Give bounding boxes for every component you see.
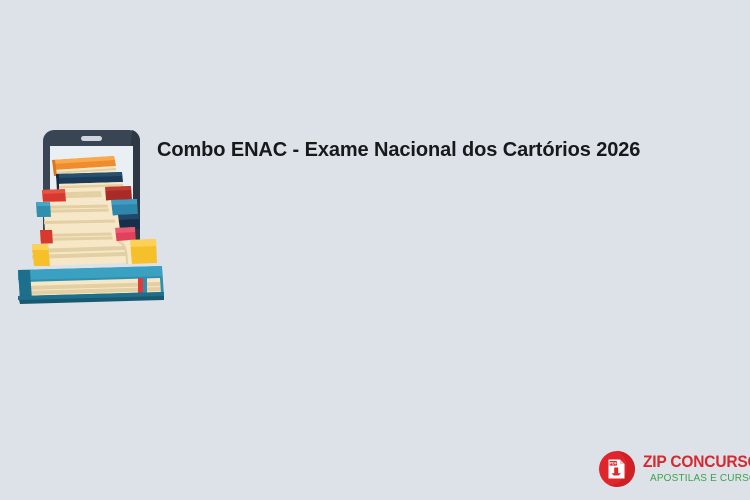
books-tablet-illustration [10, 110, 180, 315]
book-teal-4 [36, 199, 138, 217]
book-base-teal-8 [18, 266, 164, 304]
brand-tagline: APOSTILAS E CURSOS [650, 472, 750, 485]
brand-text-block: ZIP CONCURSOS APOSTILAS E CURSOS [643, 454, 750, 485]
page-title: Combo ENAC - Exame Nacional dos Cartório… [157, 138, 727, 162]
course-banner: Combo ENAC - Exame Nacional dos Cartório… [0, 0, 750, 500]
brand-logo[interactable]: PDF ZIP CONCURSOS APOSTILAS E CURSOS [598, 448, 742, 490]
bookmark-icon [138, 278, 147, 294]
svg-text:PDF: PDF [610, 462, 618, 466]
brand-name: ZIP CONCURSOS [643, 454, 750, 471]
pdf-download-circle-icon: PDF [598, 450, 636, 488]
